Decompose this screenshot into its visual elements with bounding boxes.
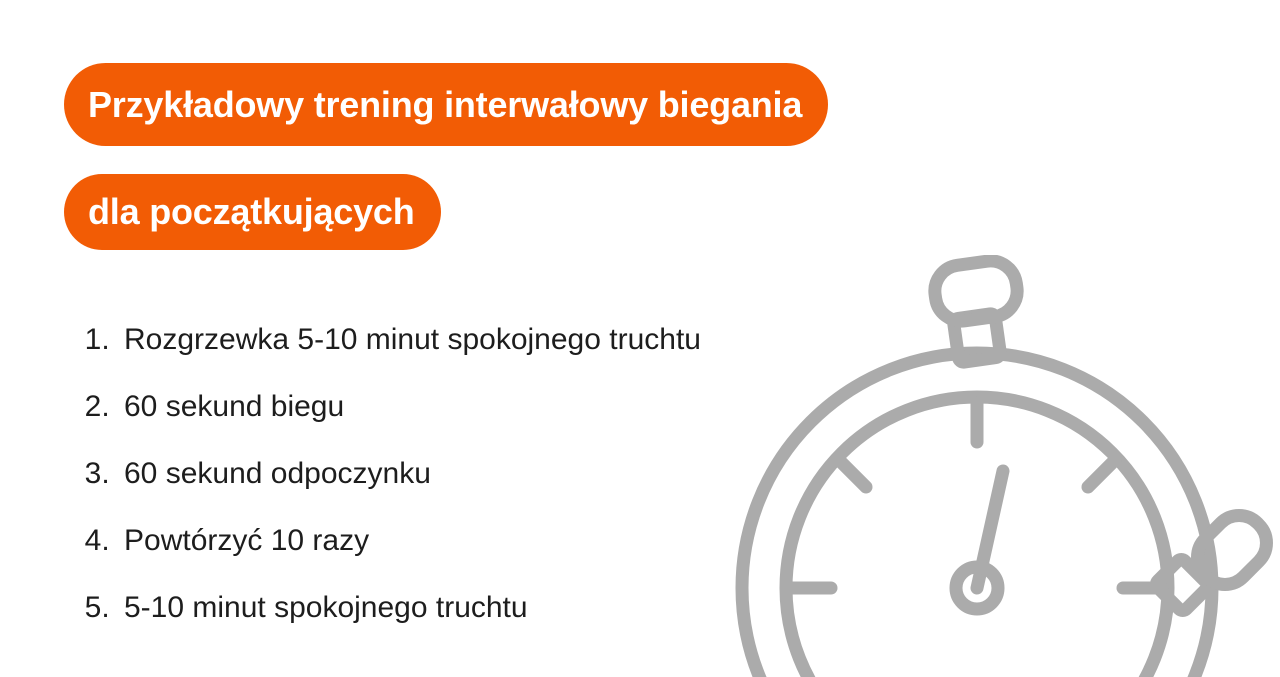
list-item: Rozgrzewka 5-10 minut spokojnego truchtu [118,306,701,373]
list-item: 60 sekund biegu [118,373,701,440]
list-item: Powtórzyć 10 razy [118,507,701,574]
step-label: Rozgrzewka 5-10 minut spokojnego truchtu [124,323,701,356]
stopwatch-side-button [1154,505,1277,613]
title-line-1-text: Przykładowy trening interwałowy biegania [88,84,802,126]
stopwatch-icon [700,255,1280,677]
infographic-canvas: Przykładowy trening interwałowy biegania… [0,0,1280,677]
title-line-2-text: dla początkujących [88,191,415,233]
stopwatch-tick-marks [792,403,1162,677]
stopwatch-hub [956,567,998,609]
workout-steps-list: Rozgrzewka 5-10 minut spokojnego truchtu… [66,306,701,641]
stopwatch-crown [932,258,1021,363]
step-label: Powtórzyć 10 razy [124,524,369,557]
list-item: 60 sekund odpoczynku [118,440,701,507]
stopwatch-hand [977,471,1003,588]
title-pill-secondary: dla początkujących [64,174,441,250]
stopwatch-svg [700,255,1280,677]
stopwatch-case-circle [742,353,1212,677]
title-pill-primary: Przykładowy trening interwałowy biegania [64,63,828,146]
list-item: 5-10 minut spokojnego truchtu [118,574,701,641]
step-label: 5-10 minut spokojnego truchtu [124,591,528,624]
stopwatch-dial-circle [786,397,1168,677]
step-label: 60 sekund odpoczynku [124,457,431,490]
step-label: 60 sekund biegu [124,390,344,423]
